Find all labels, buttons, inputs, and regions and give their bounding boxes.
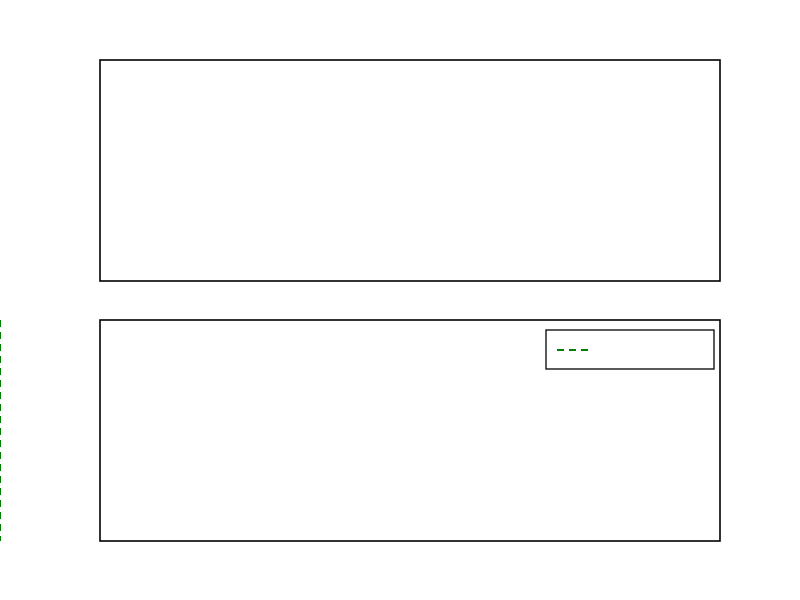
top-axes-differential-histogram [100, 60, 720, 281]
top-plot-area [100, 60, 720, 281]
matplotlib-figure [0, 0, 800, 600]
bottom-axes-cumulative-histogram [0, 320, 720, 541]
legend[interactable] [546, 330, 714, 369]
figure-canvas [0, 0, 800, 600]
